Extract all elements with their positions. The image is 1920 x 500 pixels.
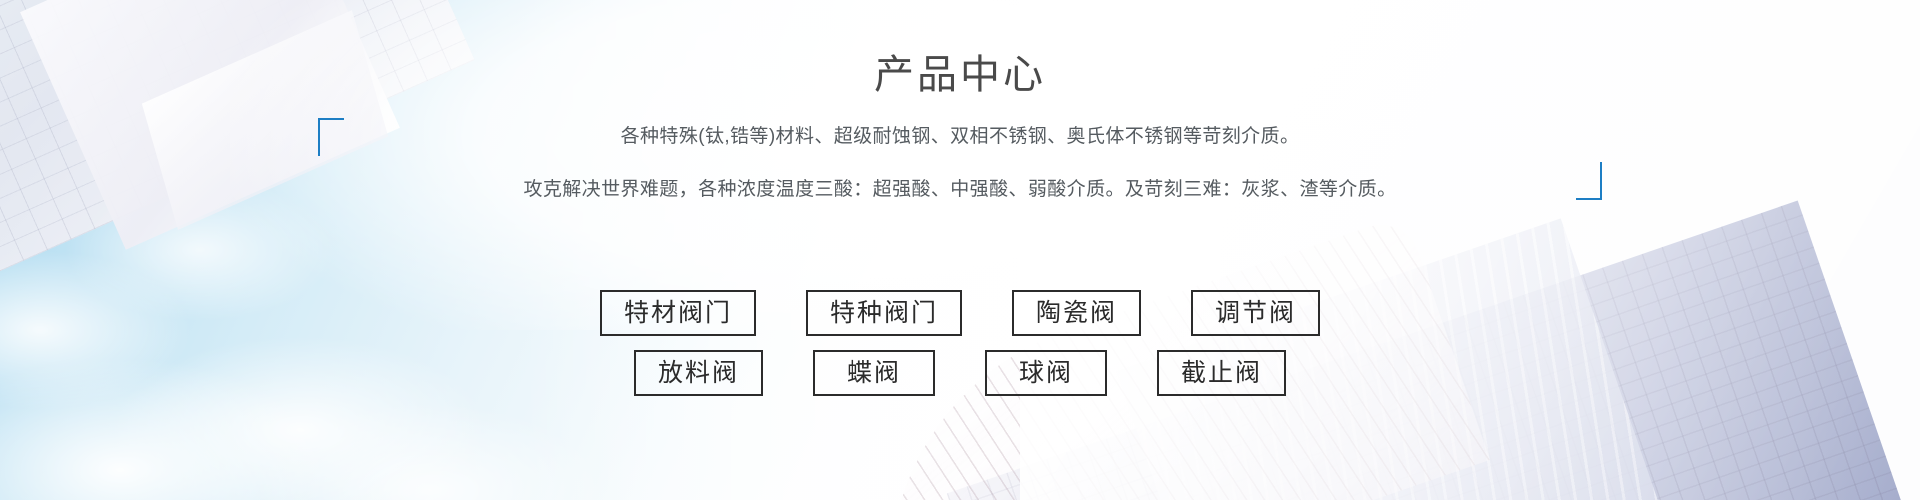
description-line-1: 各种特殊(钛,锆等)材料、超级耐蚀钢、双相不锈钢、奥氏体不锈钢等苛刻介质。: [0, 122, 1920, 151]
category-button-row-1: 特材阀门 特种阀门 陶瓷阀 调节阀: [600, 290, 1320, 336]
description-line-2: 攻克解决世界难题，各种浓度温度三酸：超强酸、中强酸、弱酸介质。及苛刻三难：灰浆、…: [0, 175, 1920, 204]
page-title: 产品中心: [0, 50, 1920, 100]
category-button-taoci-fa[interactable]: 陶瓷阀: [1012, 290, 1141, 336]
banner-content: 产品中心 各种特殊(钛,锆等)材料、超级耐蚀钢、双相不锈钢、奥氏体不锈钢等苛刻介…: [0, 0, 1920, 500]
category-button-qiu-fa[interactable]: 球阀: [985, 350, 1107, 396]
product-center-banner: 产品中心 各种特殊(钛,锆等)材料、超级耐蚀钢、双相不锈钢、奥氏体不锈钢等苛刻介…: [0, 0, 1920, 500]
category-button-jiezhi-fa[interactable]: 截止阀: [1157, 350, 1286, 396]
category-button-die-fa[interactable]: 蝶阀: [813, 350, 935, 396]
category-button-row-2: 放料阀 蝶阀 球阀 截止阀: [634, 350, 1286, 396]
category-button-tezhong-famen[interactable]: 特种阀门: [806, 290, 962, 336]
category-button-grid: 特材阀门 特种阀门 陶瓷阀 调节阀 放料阀 蝶阀 球阀 截止阀: [0, 290, 1920, 396]
description-block: 各种特殊(钛,锆等)材料、超级耐蚀钢、双相不锈钢、奥氏体不锈钢等苛刻介质。 攻克…: [0, 122, 1920, 205]
category-button-tiaojie-fa[interactable]: 调节阀: [1191, 290, 1320, 336]
category-button-fangliao-fa[interactable]: 放料阀: [634, 350, 763, 396]
category-button-tecai-famen[interactable]: 特材阀门: [600, 290, 756, 336]
